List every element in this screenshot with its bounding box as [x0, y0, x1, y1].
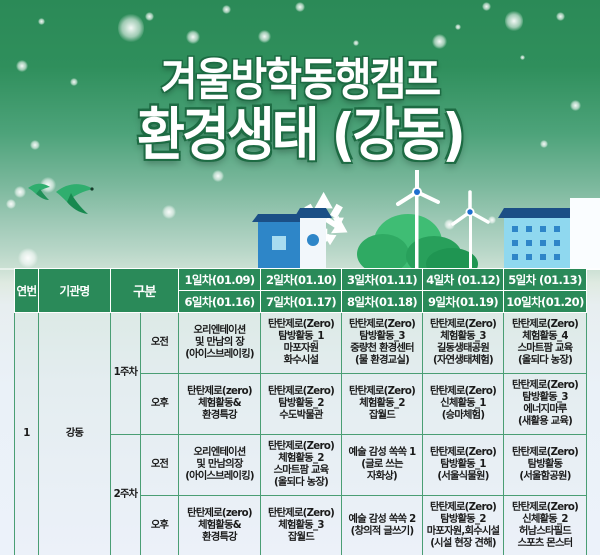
cell-w1-afternoon-d5: 탄탄제로(Zero)탐방활동_3에너지마루(새활용 교육) — [504, 374, 587, 435]
cell-week-1: 1주차 — [111, 313, 141, 435]
header-row-1: 연번 기관명 구분 1일차(01.09) 2일차(01.10) 3일차(01.1… — [15, 269, 587, 291]
cell-time-w2-morning: 오전 — [141, 435, 179, 496]
house-icon — [252, 214, 306, 270]
header-day-6: 6일차(01.16) — [179, 291, 261, 313]
header-day-9: 9일차(01.19) — [423, 291, 504, 313]
bokeh-dot — [295, 2, 305, 12]
bokeh-dot — [70, 78, 78, 86]
bokeh-dot — [556, 12, 565, 21]
cell-w1-morning-d4: 탄탄제로(Zero)체험활동_3길동생태공원(자연생태체험) — [423, 313, 504, 374]
poster-title: 겨울방학동행캠프 환경생태 (강동) — [0, 58, 600, 159]
cell-organization: 강동 — [39, 313, 111, 555]
cell-w2-afternoon-d10: 탄탄제로(Zero)신체활동_2허남스타필드스포츠 몬스터 — [504, 496, 587, 555]
bokeh-dot — [186, 30, 200, 44]
header-day-1: 1일차(01.09) — [179, 269, 261, 291]
header-day-2: 2일차(01.10) — [261, 269, 342, 291]
cell-week-2: 2주차 — [111, 435, 141, 555]
bokeh-dot — [570, 100, 581, 111]
cell-w1-afternoon-d4: 탄탄제로(Zero)신체활동_1(승마체험) — [423, 374, 504, 435]
header-index: 연번 — [15, 269, 39, 313]
cell-w2-morning-d7: 탄탄제로(Zero)체험활동_2스마트팜 교육(올되다 농장) — [261, 435, 342, 496]
bokeh-dot — [540, 140, 548, 148]
building-icon — [498, 208, 578, 270]
cell-w2-morning-d8: 예술 감성 쏙쏙 1(글로 쓰는자화상) — [342, 435, 423, 496]
title-line-1: 겨울방학동행캠프 — [0, 58, 600, 103]
cell-w1-afternoon-d2: 탄탄제로(Zero)탐방활동_2수도박물관 — [261, 374, 342, 435]
table-header: 연번 기관명 구분 1일차(01.09) 2일차(01.10) 3일차(01.1… — [15, 269, 587, 313]
header-day-3: 3일차(01.11) — [342, 269, 423, 291]
cell-w2-morning-d6: 오리엔테이션및 만남의장(아이스브레이킹) — [179, 435, 261, 496]
cell-w1-morning-d5: 탄탄제로(Zero)체험활동_4스마트팜 교육(올되다 농장) — [504, 313, 587, 374]
header-organization: 기관명 — [39, 269, 111, 313]
bokeh-dot — [118, 13, 144, 43]
header-day-4: 4일차 (01.12) — [423, 269, 504, 291]
cell-w1-morning-d1: 오리엔테이션및 만남의 장(아이스브레이킹) — [179, 313, 261, 374]
cell-index: 1 — [15, 313, 39, 555]
cell-w1-morning-d2: 탄탄제로(Zero)탐방활동_1마포자원화수시설 — [261, 313, 342, 374]
cell-w2-afternoon-d6: 탄탄제로(zero)체험활동&환경특강 — [179, 496, 261, 555]
bokeh-dot — [222, 5, 231, 14]
title-line-2: 환경생태 (강동) — [0, 107, 600, 164]
cell-w2-morning-d9: 탄탄제로(Zero)탐방활동_1(서울식물원) — [423, 435, 504, 496]
building-icon — [570, 198, 600, 270]
cell-w2-morning-d10: 탄탄제로(Zero)탐방활동(서울함공원) — [504, 435, 587, 496]
bokeh-dot — [258, 30, 271, 43]
cell-time-w2-afternoon: 오후 — [141, 496, 179, 555]
bokeh-dot — [482, 2, 491, 11]
cell-w2-afternoon-d9: 탄탄제로(Zero)탐방활동_2마포자원,회수시설(시설 현장 견해) — [423, 496, 504, 555]
bokeh-dot — [16, 60, 28, 72]
bokeh-dot — [455, 24, 461, 30]
poster-root: 겨울방학동행캠프 환경생태 (강동) — [0, 0, 600, 555]
cell-w2-afternoon-d7: 탄탄제로(Zero)체험활동_3잡월드 — [261, 496, 342, 555]
header-day-8: 8일차(01.18) — [342, 291, 423, 313]
cell-w1-afternoon-d1: 탄탄제로(zero)체험활동&환경특강 — [179, 374, 261, 435]
bird-icon — [56, 184, 94, 214]
bokeh-dot — [432, 34, 447, 49]
cell-w2-afternoon-d8: 예술 감성 쏙쏙 2(창의적 글쓰기) — [342, 496, 423, 555]
table-row: 1 강동 1주차 오전 오리엔테이션및 만남의 장(아이스브레이킹) 탄탄제로(… — [15, 313, 587, 374]
bokeh-dot — [520, 55, 525, 60]
bokeh-dot — [38, 18, 45, 25]
cell-w1-afternoon-d3: 탄탄제로(Zero)체험활동_2잡월드 — [342, 374, 423, 435]
header-division: 구분 — [111, 269, 179, 313]
bird-icon — [28, 184, 50, 200]
schedule-table: 연번 기관명 구분 1일차(01.09) 2일차(01.10) 3일차(01.1… — [14, 268, 587, 555]
header-day-5: 5일차 (01.13) — [504, 269, 587, 291]
bokeh-dot — [30, 140, 40, 150]
header-day-7: 7일차(01.17) — [261, 291, 342, 313]
bokeh-dot — [505, 10, 523, 32]
cell-time-w1-afternoon: 오후 — [141, 374, 179, 435]
cell-time-w1-morning: 오전 — [141, 313, 179, 374]
cell-w1-morning-d3: 탄탄제로(Zero)탐방활동_3중량천 환경센터(물 환경교실) — [342, 313, 423, 374]
bokeh-dot — [392, 92, 400, 100]
header-day-10: 10일차(01.20) — [504, 291, 587, 313]
bokeh-dot — [353, 40, 359, 46]
table-body: 1 강동 1주차 오전 오리엔테이션및 만남의 장(아이스브레이킹) 탄탄제로(… — [15, 313, 587, 555]
scenery-illustration — [0, 170, 600, 270]
bokeh-dot — [145, 12, 154, 21]
